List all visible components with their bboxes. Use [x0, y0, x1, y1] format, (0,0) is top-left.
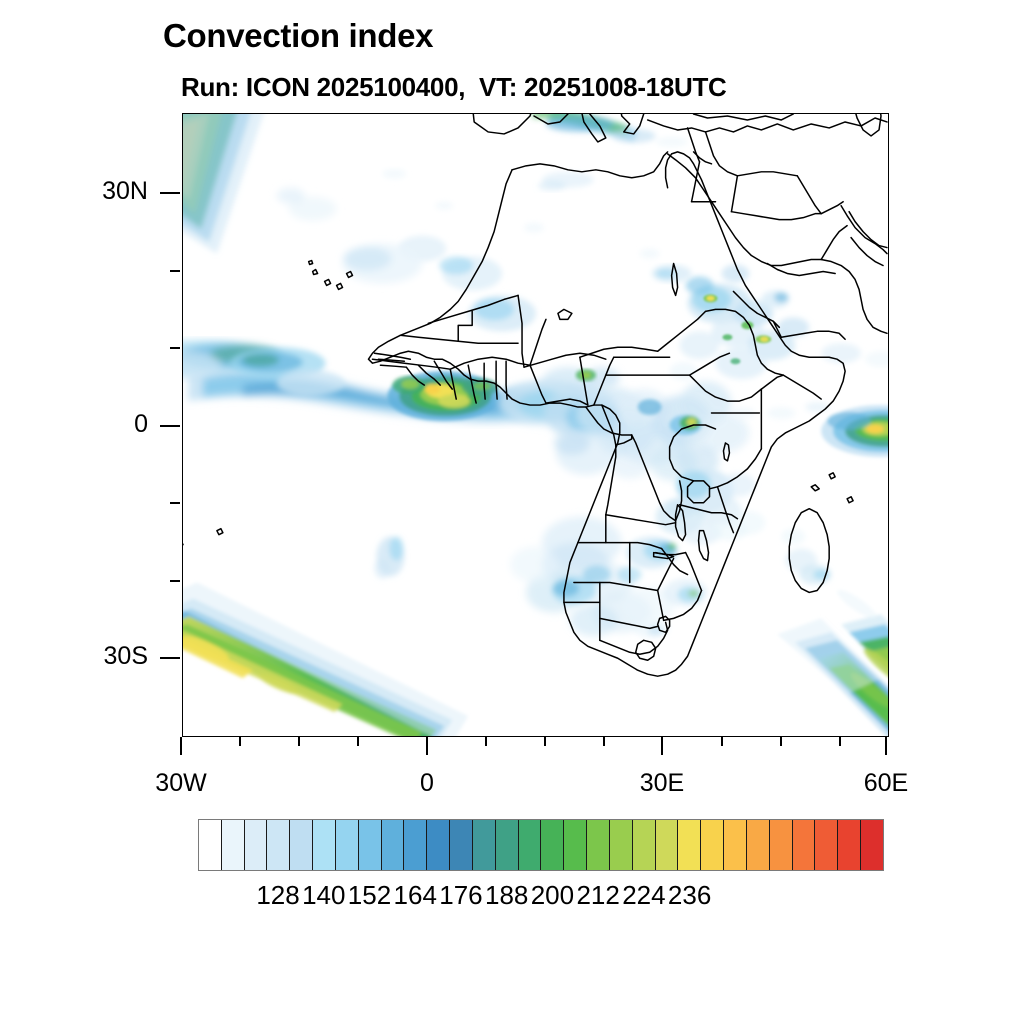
colorbar-cell — [610, 820, 633, 870]
colorbar-tick-label: 164 — [394, 880, 437, 911]
colorbar-cell — [770, 820, 793, 870]
colorbar-cell — [747, 820, 770, 870]
y-tick — [160, 657, 180, 659]
page-title: Convection index — [163, 17, 433, 55]
colorbar-tick-label: 176 — [439, 880, 482, 911]
x-tick — [780, 737, 782, 746]
chart-subtitle: Run: ICON 2025100400, VT: 20251008-18UTC — [181, 72, 727, 103]
colorbar-cell — [290, 820, 313, 870]
x-tick — [485, 737, 487, 746]
x-tick — [298, 737, 300, 746]
colorbar-cell — [633, 820, 656, 870]
y-tick-label: 30S — [0, 642, 148, 671]
colorbar-cell — [222, 820, 245, 870]
x-tick — [661, 737, 663, 755]
colorbar-tick-label: 152 — [348, 880, 391, 911]
colorbar-cell — [793, 820, 816, 870]
colorbar-tick-label: 236 — [668, 880, 711, 911]
colorbar[interactable] — [198, 819, 884, 871]
colorbar-tick-label: 200 — [531, 880, 574, 911]
y-tick — [160, 192, 180, 194]
colorbar-cell — [541, 820, 564, 870]
x-tick — [721, 737, 723, 746]
x-tick — [544, 737, 546, 746]
x-tick-label: 30W — [121, 769, 241, 798]
colorbar-cell — [861, 820, 883, 870]
x-tick — [839, 737, 841, 746]
colorbar-cell — [199, 820, 222, 870]
colorbar-cell — [564, 820, 587, 870]
y-tick-label: 30N — [0, 177, 148, 206]
colorbar-tick-labels: 128140152164176188200212224236 — [198, 880, 884, 914]
x-tick-label: 30E — [602, 769, 722, 798]
map-plot-area[interactable] — [182, 113, 889, 737]
colorbar-cell — [496, 820, 519, 870]
chart-root: Convection index Run: ICON 2025100400, V… — [0, 0, 1024, 1024]
y-tick-label: 0 — [0, 410, 148, 439]
colorbar-cell — [678, 820, 701, 870]
x-tick — [885, 737, 887, 755]
colorbar-tick-label: 188 — [485, 880, 528, 911]
colorbar-cell — [427, 820, 450, 870]
colorbar-tick-label: 212 — [576, 880, 619, 911]
colorbar-cell — [245, 820, 268, 870]
colorbar-cell — [473, 820, 496, 870]
colorbar-tick-label: 128 — [256, 880, 299, 911]
colorbar-cell — [336, 820, 359, 870]
x-tick — [357, 737, 359, 746]
y-tick — [170, 347, 180, 349]
x-tick — [180, 737, 182, 755]
x-tick — [239, 737, 241, 746]
colorbar-cell — [382, 820, 405, 870]
y-tick — [170, 502, 180, 504]
x-tick-label: 60E — [826, 769, 946, 798]
colorbar-cell — [656, 820, 679, 870]
colorbar-cell — [359, 820, 382, 870]
x-tick — [426, 737, 428, 755]
colorbar-tick-label: 140 — [302, 880, 345, 911]
colorbar-cell — [450, 820, 473, 870]
x-tick-label: 0 — [367, 769, 487, 798]
colorbar-cell — [313, 820, 336, 870]
colorbar-cell — [587, 820, 610, 870]
x-tick — [603, 737, 605, 746]
y-tick — [160, 425, 180, 427]
colorbar-cell — [519, 820, 542, 870]
convection-field — [183, 114, 888, 736]
colorbar-cell — [701, 820, 724, 870]
colorbar-cell — [404, 820, 427, 870]
colorbar-cell — [724, 820, 747, 870]
colorbar-cell — [267, 820, 290, 870]
colorbar-tick-label: 224 — [622, 880, 665, 911]
y-tick — [170, 580, 180, 582]
y-tick — [170, 270, 180, 272]
colorbar-cell — [815, 820, 838, 870]
map-canvas — [183, 114, 888, 736]
colorbar-cell — [838, 820, 861, 870]
